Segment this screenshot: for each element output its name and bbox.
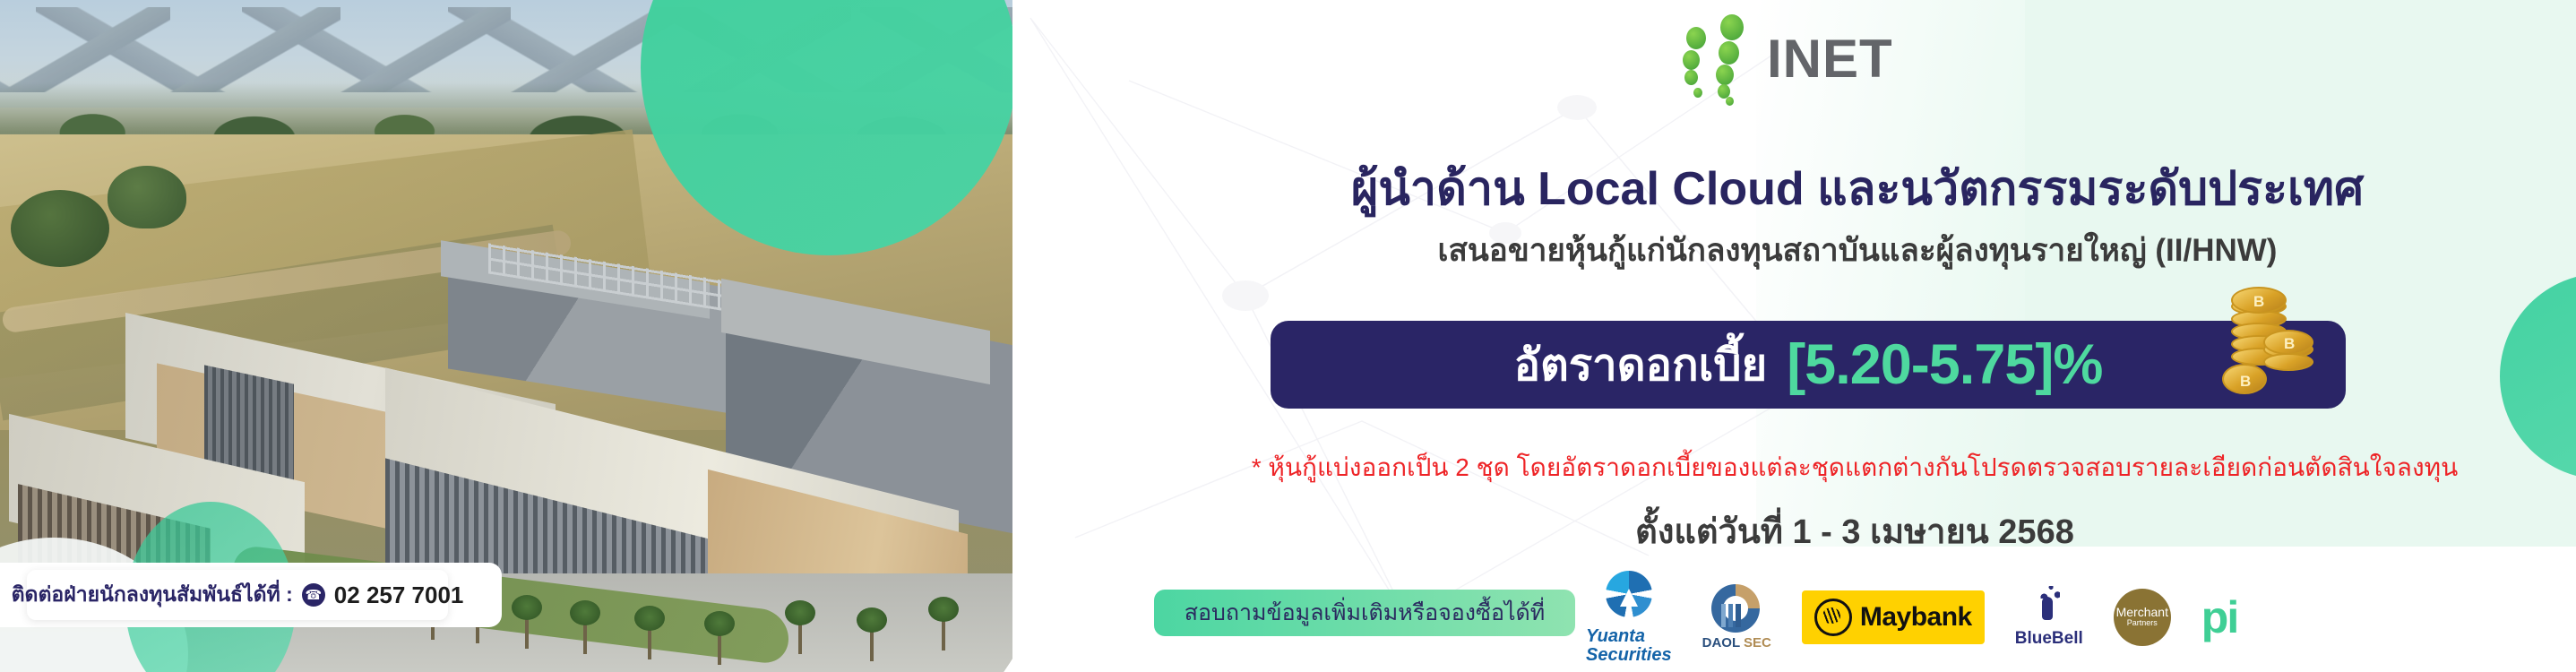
offer-date-range: ตั้งแต่วันที่ 1 - 3 เมษายน 2568 [1156, 504, 2554, 558]
inet-logo: INET [1667, 13, 1962, 86]
tree [11, 190, 109, 267]
palm-tree [860, 602, 883, 659]
partner-bluebell[interactable]: BlueBell [2015, 586, 2083, 649]
yuanta-line2: Securities [1586, 646, 1672, 664]
pi-wordmark-icon: pi [2201, 599, 2237, 635]
interest-rate-box: อัตราดอกเบี้ย [5.20-5.75]% B B B [1271, 321, 2346, 409]
daol-line2: SEC [1744, 635, 1771, 650]
interest-rate-label: อัตราดอกเบี้ย [1514, 330, 1768, 400]
partner-yuanta-securities[interactable]: Yuanta Securities [1586, 571, 1672, 664]
tree [108, 166, 186, 228]
palm-tree [573, 595, 597, 652]
merchant-circle-icon: Merchant Partners [2114, 589, 2171, 646]
merchant-line2: Partners [2127, 618, 2158, 629]
investor-relations-contact: ติดต่อฝ่ายนักลงทุนสัมพันธ์ได้ที่ : 02 25… [27, 570, 448, 620]
contact-label: ติดต่อฝ่ายนักลงทุนสัมพันธ์ได้ที่ : [12, 579, 293, 611]
palm-tree [788, 595, 812, 652]
partner-daol-sec[interactable]: DAOL SEC [1702, 584, 1771, 650]
promotional-banner: INET ผู้นำด้าน Local Cloud และนวัตกรรมระ… [0, 0, 2576, 672]
contact-phone-number[interactable]: 02 257 7001 [334, 582, 464, 609]
yuanta-star-icon [1606, 571, 1652, 617]
yuanta-line1: Yuanta [1586, 627, 1672, 645]
partner-logos: Yuanta Securities DAOL SEC Maybank BlueB… [1586, 581, 2554, 654]
inet-dots-logo-icon [1667, 13, 1765, 86]
palm-tree [515, 590, 538, 647]
daol-line1: DAOL [1702, 635, 1740, 650]
disclaimer-text: * หุ้นกู้แบ่งออกเป็น 2 ชุด โดยอัตราดอกเบ… [1156, 448, 2554, 487]
daol-pie-chart-icon [1711, 584, 1762, 633]
maybank-wordmark: Maybank [1860, 602, 1972, 633]
gold-coin-stack-icon: B B B [2217, 294, 2324, 410]
palm-tree [708, 606, 731, 663]
page-title: ผู้นำด้าน Local Cloud และนวัตกรรมระดับปร… [1181, 151, 2534, 225]
maybank-tiger-icon [1814, 599, 1852, 636]
inquiry-cta-label: สอบถามข้อมูลเพิ่มเติมหรือจองซื้อได้ที่ [1185, 595, 1546, 631]
bluebell-deer-icon [2029, 586, 2069, 627]
phone-icon [302, 583, 325, 607]
inet-wordmark: INET [1767, 32, 1893, 86]
partner-maybank[interactable]: Maybank [1802, 590, 1985, 644]
partner-pi[interactable]: pi [2201, 599, 2237, 635]
merchant-line1: Merchant [2116, 606, 2168, 618]
subtitle: เสนอขายหุ้นกู้แก่นักลงทุนสถาบันและผู้ลงท… [1181, 226, 2534, 275]
partner-merchant-partners[interactable]: Merchant Partners [2114, 589, 2171, 646]
inquiry-cta-button[interactable]: สอบถามข้อมูลเพิ่มเติมหรือจองซื้อได้ที่ [1154, 590, 1575, 636]
palm-tree [638, 600, 661, 658]
bluebell-wordmark: BlueBell [2015, 629, 2083, 649]
interest-rate-value: [5.20-5.75]% [1787, 332, 2102, 397]
palm-tree [932, 591, 955, 649]
